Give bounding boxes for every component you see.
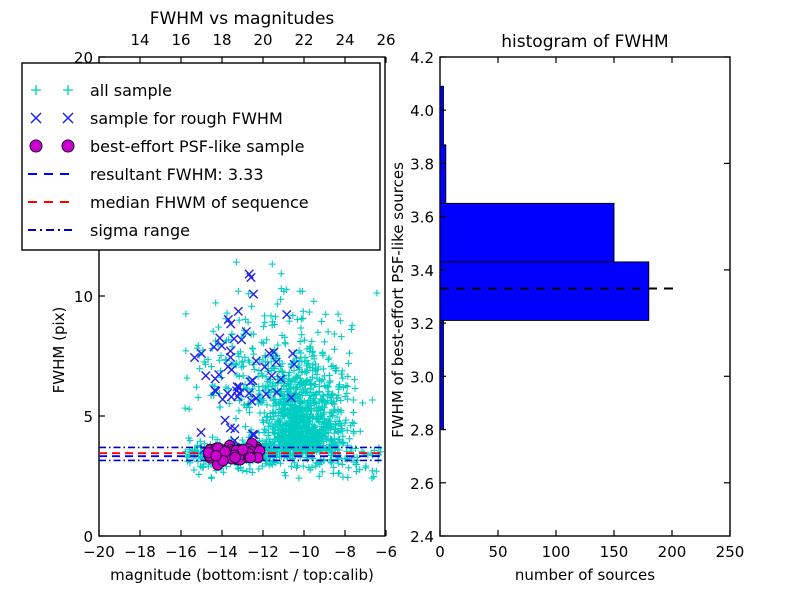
legend-item-label: resultant FWHM: 3.33 xyxy=(90,165,264,184)
histogram-bar xyxy=(440,86,443,145)
histogram-bar xyxy=(440,371,443,430)
legend-item-label: sample for rough FWHM xyxy=(90,109,283,128)
right-x-tick-label: 150 xyxy=(600,543,629,561)
right-x-tick-label: 200 xyxy=(658,543,687,561)
y-tick-label: 5 xyxy=(83,408,93,426)
right-y-tick-label: 2.4 xyxy=(410,528,434,546)
legend-item-label: median FHWM of sequence xyxy=(90,193,309,212)
right-x-tick-label: 100 xyxy=(542,543,571,561)
histogram-bar xyxy=(440,262,649,321)
top-tick-label: 16 xyxy=(171,31,190,49)
legend: all samplesample for rough FWHMbest-effo… xyxy=(22,63,380,250)
right-y-tick-label: 3.2 xyxy=(410,315,434,333)
right-y-tick-label: 3.0 xyxy=(410,368,434,386)
y-tick-label: 10 xyxy=(74,288,93,306)
right-panel-title: histogram of FWHM xyxy=(501,32,668,52)
left-panel-xlabel: magnitude (bottom:isnt / top:calib) xyxy=(110,566,374,584)
right-y-tick-label: 3.4 xyxy=(410,262,434,280)
right-y-tick-label: 2.8 xyxy=(410,422,434,440)
histogram-bar xyxy=(440,145,446,204)
legend-item-label: all sample xyxy=(90,81,172,100)
right-y-tick-label: 3.8 xyxy=(410,155,434,173)
top-tick-label: 18 xyxy=(212,31,231,49)
histogram-bar xyxy=(440,203,614,262)
figure-canvas: FWHM vs magnitudes 14 16 18 20 22 24 26 xyxy=(0,0,800,600)
right-x-tick-label: 50 xyxy=(488,543,507,561)
right-y-tick-label: 4.0 xyxy=(410,102,434,120)
top-tick-label: 14 xyxy=(130,31,149,49)
histogram-bar xyxy=(440,320,443,371)
top-tick-label: 26 xyxy=(376,31,395,49)
right-y-tick-label: 2.6 xyxy=(410,475,434,493)
bottom-tick-label: −20 xyxy=(83,543,115,561)
top-tick-label: 22 xyxy=(294,31,313,49)
bottom-tick-label: −12 xyxy=(247,543,279,561)
right-x-tick-label: 0 xyxy=(435,543,445,561)
bottom-tick-label: −10 xyxy=(288,543,320,561)
legend-item-label: sigma range xyxy=(90,221,190,240)
bottom-tick-label: −8 xyxy=(334,543,356,561)
top-tick-label: 24 xyxy=(335,31,354,49)
right-panel-xlabel: number of sources xyxy=(515,566,655,584)
right-y-tick-label: 4.2 xyxy=(410,49,434,67)
right-x-tick-label: 250 xyxy=(716,543,745,561)
legend-box xyxy=(22,63,380,250)
right-panel-ylabel: FWHM of best-effort PSF-like sources xyxy=(389,162,407,438)
left-panel-ylabel: FWHM (pix) xyxy=(50,307,68,394)
left-panel-title: FWHM vs magnitudes xyxy=(150,9,335,29)
bottom-tick-label: −18 xyxy=(124,543,156,561)
right-y-tick-label: 3.6 xyxy=(410,209,434,227)
legend-item-label: best-effort PSF-like sample xyxy=(90,137,304,156)
bottom-tick-label: −16 xyxy=(165,543,197,561)
bottom-tick-label: −14 xyxy=(206,543,238,561)
top-tick-label: 20 xyxy=(253,31,272,49)
bottom-tick-label: −6 xyxy=(375,543,397,561)
